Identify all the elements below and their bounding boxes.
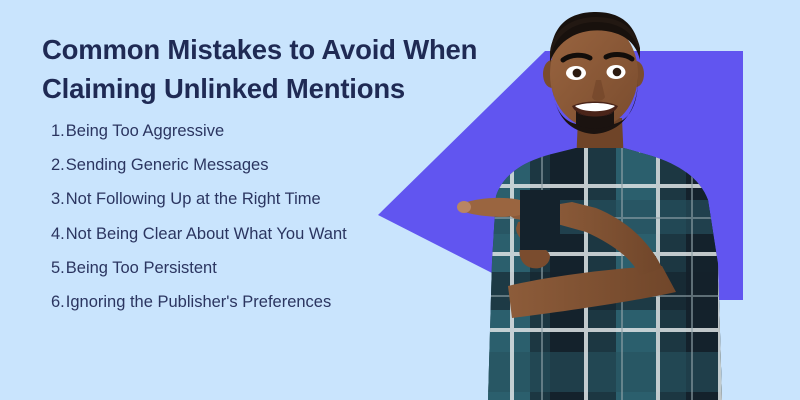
- list-item: 1. Being Too Aggressive: [42, 122, 542, 156]
- list-item-number: 3.: [51, 190, 65, 210]
- page-title-line-2: Claiming Unlinked Mentions: [42, 69, 542, 108]
- page-title-line-1: Common Mistakes to Avoid When: [42, 30, 542, 69]
- list-item-label: Being Too Aggressive: [66, 122, 224, 142]
- list-item: 6. Ignoring the Publisher's Preferences: [42, 293, 542, 327]
- list-item-label: Sending Generic Messages: [66, 156, 269, 176]
- list-item: 5. Being Too Persistent: [42, 259, 542, 293]
- list-item-number: 2.: [51, 156, 65, 176]
- list-item-number: 6.: [51, 293, 65, 313]
- list-item-number: 5.: [51, 259, 65, 279]
- page-title: Common Mistakes to Avoid When Claiming U…: [42, 30, 542, 108]
- text-content: Common Mistakes to Avoid When Claiming U…: [42, 30, 542, 327]
- list-item-number: 1.: [51, 122, 65, 142]
- list-item-label: Not Being Clear About What You Want: [66, 225, 347, 245]
- infographic-canvas: Common Mistakes to Avoid When Claiming U…: [0, 0, 800, 400]
- list-item: 3. Not Following Up at the Right Time: [42, 190, 542, 224]
- list-item-label: Ignoring the Publisher's Preferences: [66, 293, 331, 313]
- list-item: 2. Sending Generic Messages: [42, 156, 542, 190]
- list-item-label: Being Too Persistent: [66, 259, 217, 279]
- list-item-number: 4.: [51, 225, 65, 245]
- list-item: 4. Not Being Clear About What You Want: [42, 225, 542, 259]
- list-item-label: Not Following Up at the Right Time: [66, 190, 321, 210]
- mistakes-list: 1. Being Too Aggressive 2. Sending Gener…: [42, 122, 542, 327]
